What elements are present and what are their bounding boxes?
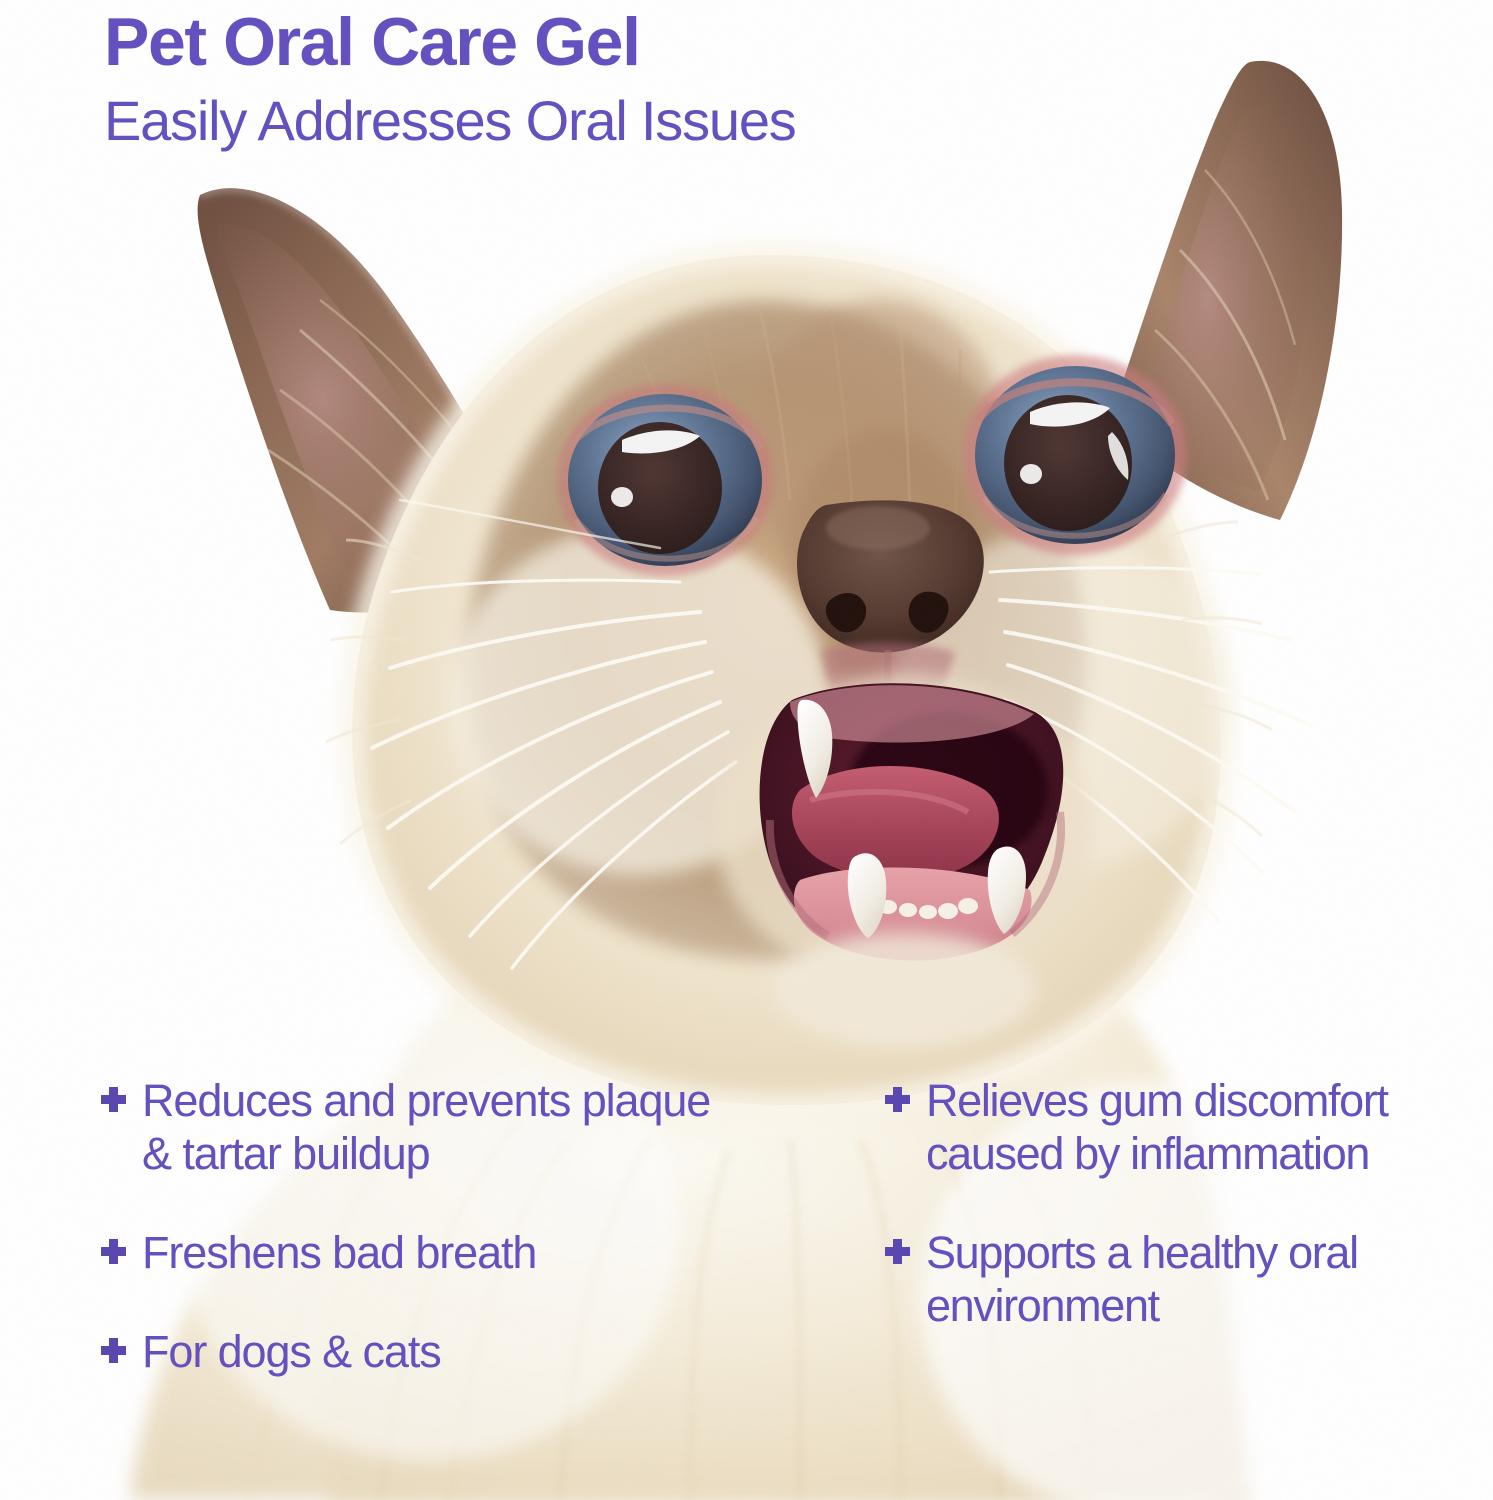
- benefit-text: Freshens bad breath: [142, 1226, 536, 1279]
- benefit-text: Relieves gum discomfort caused by inflam…: [926, 1074, 1493, 1180]
- benefit-text: Supports a healthy oral environment: [926, 1226, 1493, 1332]
- benefit-text: For dogs & cats: [142, 1325, 441, 1378]
- list-item: For dogs & cats: [100, 1325, 720, 1378]
- plus-icon: [100, 1337, 130, 1367]
- plus-icon: [884, 1086, 914, 1116]
- product-feature-poster: Pet Oral Care Gel Easily Addresses Oral …: [0, 0, 1493, 1500]
- page-subtitle: Easily Addresses Oral Issues: [104, 88, 1204, 154]
- plus-icon: [100, 1086, 130, 1116]
- list-item: Freshens bad breath: [100, 1226, 720, 1279]
- plus-icon: [100, 1238, 130, 1268]
- benefits-list-left: Reduces and prevents plaque & tartar bui…: [100, 1074, 720, 1378]
- benefits-list-right: Relieves gum discomfort caused by inflam…: [884, 1074, 1493, 1332]
- page-title: Pet Oral Care Gel: [104, 4, 1204, 80]
- list-item: Reduces and prevents plaque & tartar bui…: [100, 1074, 720, 1180]
- list-item: Relieves gum discomfort caused by inflam…: [884, 1074, 1493, 1180]
- header-block: Pet Oral Care Gel Easily Addresses Oral …: [104, 4, 1204, 154]
- list-item: Supports a healthy oral environment: [884, 1226, 1493, 1332]
- benefit-text: Reduces and prevents plaque & tartar bui…: [142, 1074, 720, 1180]
- plus-icon: [884, 1238, 914, 1268]
